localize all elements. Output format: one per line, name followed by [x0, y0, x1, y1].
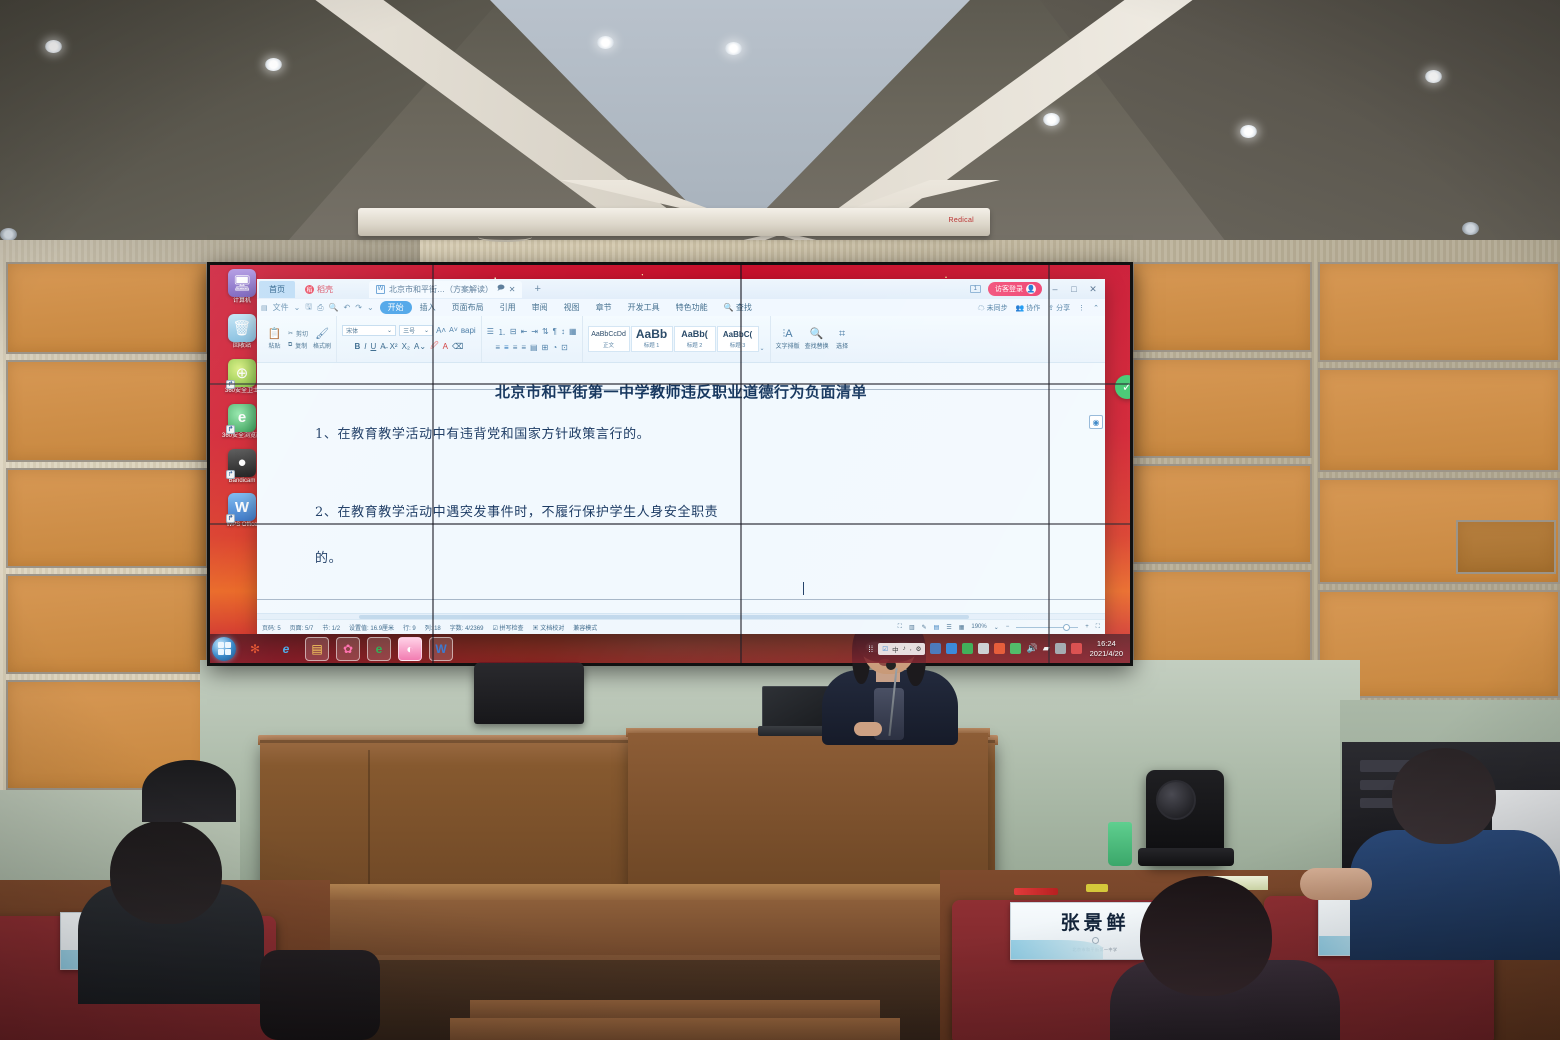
tab-developer-tools[interactable]: 开发工具	[620, 301, 668, 314]
page-layout-icon[interactable]: ▤	[934, 624, 940, 631]
shrink-font-icon[interactable]: A˅	[449, 327, 458, 334]
status-page-number: 页码: 5	[262, 623, 281, 632]
cut-icon: ✂	[288, 330, 293, 337]
share-icon: ⇪	[1048, 305, 1054, 312]
ceiling-light	[1425, 70, 1442, 83]
status-doc-proof[interactable]: ▣ 文档校对	[533, 623, 565, 632]
find-replace-label: 查找替换	[805, 341, 829, 350]
yellow-clip	[1086, 884, 1108, 892]
cut-button[interactable]: ✂ 剪切	[288, 329, 308, 338]
audience-head-right	[1392, 748, 1496, 844]
find-replace-button[interactable]: 🔍 查找替换	[805, 328, 829, 350]
wps-ribbon: 📋 粘贴 ✂ 剪切 ⧉ 复制 🖌	[257, 316, 1105, 363]
ceiling-light	[45, 40, 62, 53]
paste-button[interactable]: 📋 粘贴	[266, 328, 283, 350]
copy-icon: ⧉	[288, 342, 292, 349]
bullet-list-icon[interactable]: ☰	[487, 327, 494, 338]
volume-icon[interactable]: 🔊	[1026, 643, 1037, 654]
outline-view-icon[interactable]: ☰	[946, 624, 951, 631]
format-painter-icon: 🖌	[315, 328, 329, 340]
document-paragraph-3: 的。	[291, 546, 1071, 572]
ime-indicator[interactable]: ☑ 中 ♪ , ⚙	[878, 643, 925, 655]
font-format-row: B I U A̶ X² X₂ A⌄ 🖉 A ⌫	[354, 340, 463, 354]
table-borders-icon[interactable]: ⊡	[561, 343, 568, 352]
ime-check-icon: ☑	[882, 645, 888, 653]
document-tab-label: 北京市和平街…（方案解读）	[389, 284, 493, 295]
style-name: 标题 2	[676, 341, 714, 349]
side-tool-button[interactable]: ◉	[1089, 415, 1103, 429]
borders-icon[interactable]: ▦	[569, 327, 577, 338]
highlight-color-icon[interactable]: 🖉	[430, 340, 439, 354]
ceiling-light	[597, 36, 614, 49]
style-name: 标题 1	[633, 341, 671, 349]
ceiling-light	[1462, 222, 1479, 235]
wall-panel	[6, 468, 208, 568]
spotlight-base	[1138, 848, 1234, 866]
style-gallery: AaBbCcDd 正文 AaBb 标题 1 AaBb( 标题 2 AaBbC	[588, 326, 765, 352]
led-screen-content: 🖥 计算机 🗑 回收站 ⊕ ↱ 360安全卫士 e ↱	[210, 265, 1130, 663]
file-menu-button[interactable]: ▤	[261, 304, 268, 312]
tray-green-icon[interactable]	[962, 643, 973, 654]
audience-head-left	[110, 820, 222, 924]
tab-references[interactable]: 引用	[492, 301, 524, 314]
360-browser-glyph: e	[238, 409, 246, 426]
italic-button[interactable]: I	[364, 342, 366, 351]
print-icon[interactable]: ⎙	[317, 303, 323, 313]
ceiling-light	[265, 58, 282, 71]
status-row: 行: 9	[403, 623, 416, 632]
align-left-icon[interactable]: ≡	[495, 343, 500, 352]
zoom-level[interactable]: 190%	[971, 624, 986, 630]
tab-close-icon[interactable]: ✕	[509, 285, 516, 294]
document-heading: 北京市和平街第一中学教师违反职业道德行为负面清单	[291, 381, 1071, 402]
taskbar-360browser-icon[interactable]: e	[367, 637, 391, 661]
foreground-dark-object	[260, 950, 380, 1040]
presenter-hand	[854, 722, 882, 736]
full-screen-icon[interactable]: ⛶	[898, 624, 902, 631]
window-count-badge[interactable]: 1	[970, 285, 981, 293]
taskbar-wps-icon[interactable]: W	[429, 637, 453, 661]
docer-label: 稻壳	[317, 284, 333, 295]
ceiling-light	[725, 42, 742, 55]
cloud-icon: ☁	[978, 305, 985, 312]
wps-ribbon-tab-strip: ▤ 文件 ⌄ 🖫 ⎙ 🔍 ↶ ↷ ⌄ 开始 插入 页面布局 引用 审阅 视图 章…	[257, 299, 1105, 316]
red-pen	[1014, 888, 1058, 895]
wall-panel	[1318, 368, 1560, 472]
projector-brand-label: Redical	[949, 217, 974, 224]
ceiling-light	[1043, 113, 1060, 126]
wps-document-tab[interactable]: W 北京市和平街…（方案解读） 🗩 ✕	[369, 281, 522, 298]
taskbar-ie-icon[interactable]: e	[274, 637, 298, 661]
collaborate-button[interactable]: 👥 协作	[1016, 303, 1041, 313]
zoom-slider[interactable]	[1016, 627, 1078, 628]
shortcut-arrow-icon: ↱	[226, 380, 235, 389]
ribbon-search[interactable]: 🔍 查找	[716, 301, 760, 314]
style-heading-3[interactable]: AaBbC( 标题 3	[717, 326, 759, 352]
tab-insert[interactable]: 插入	[412, 301, 444, 314]
select-icon: ⌗	[839, 328, 845, 340]
typography-icon: ⫶A	[783, 328, 793, 340]
audience-shoulders-right	[1350, 830, 1560, 960]
web-layout-icon[interactable]: ▦	[959, 624, 965, 631]
style-preview: AaBb(	[676, 329, 714, 340]
shortcut-arrow-icon: ↱	[226, 514, 235, 523]
justify-icon[interactable]: ≡	[521, 343, 526, 352]
audience-hand-right	[1300, 868, 1372, 900]
tray-app-icon[interactable]	[930, 643, 941, 654]
search-icon: 🔍	[724, 303, 734, 312]
typography-button[interactable]: ⫶A 文字排版	[776, 328, 800, 350]
clear-format-icon[interactable]: ⌫	[452, 342, 463, 351]
document-rule	[257, 599, 1105, 600]
sort-icon[interactable]: ⇅	[542, 327, 549, 338]
checkbox-icon: ☑	[492, 626, 497, 632]
desk-seam	[368, 750, 370, 900]
taskbar-clock[interactable]: 16:24 2021/4/20	[1087, 639, 1126, 659]
share-button[interactable]: ⇪ 分享	[1048, 303, 1070, 313]
wps-title-bar: 首页 稻 稻壳 W 北京市和平街…（方案解读） 🗩 ✕ + 1 访客登录 👤	[257, 279, 1105, 299]
collapse-ribbon-icon[interactable]: ⌃	[1093, 304, 1099, 312]
style-name: 正文	[590, 341, 628, 349]
document-paragraph-1: 1、在教育教学活动中有违背党和国家方针政策言行的。	[291, 422, 1071, 448]
tab-section[interactable]: 章节	[588, 301, 620, 314]
format-painter-button[interactable]: 🖌 格式刷	[313, 328, 331, 350]
style-preview: AaBbC(	[719, 329, 757, 340]
bold-button[interactable]: B	[354, 342, 360, 351]
wall-panel	[6, 574, 208, 674]
align-row: ≡ ≡ ≡ ≡ ▤ ⊞ ◔ ⊡	[495, 343, 568, 352]
reading-layout-icon[interactable]: ▥	[909, 624, 915, 631]
grow-font-icon[interactable]: A˄	[436, 326, 446, 335]
green-bottle	[1108, 822, 1132, 866]
shading-icon[interactable]: ◔	[552, 343, 557, 352]
word-doc-icon: W	[376, 285, 385, 294]
print-preview-icon[interactable]: 🔍	[329, 303, 339, 312]
edit-mode-icon[interactable]: ✎	[922, 624, 927, 631]
underline-button[interactable]: U	[370, 342, 376, 351]
new-tab-button[interactable]: +	[534, 283, 540, 295]
windows-logo-icon	[218, 642, 231, 655]
paragraph-layout-icon[interactable]: ⊞	[542, 343, 549, 352]
minimize-button[interactable]: –	[1049, 284, 1061, 294]
style-preview: AaBb	[633, 329, 671, 340]
style-normal[interactable]: AaBbCcDd 正文	[588, 326, 630, 352]
paste-label: 粘贴	[268, 341, 280, 350]
people-icon: 👥	[1016, 305, 1025, 312]
document-canvas[interactable]: 北京市和平街第一中学教师违反职业道德行为负面清单 1、在教育教学活动中有违背党和…	[257, 363, 1105, 613]
wall-panel	[1318, 262, 1560, 362]
titlebar-right-controls: 1 访客登录 👤 – □ ✕	[970, 282, 1105, 296]
status-section: 节: 1/2	[322, 623, 340, 632]
tab-special-features[interactable]: 特色功能	[668, 301, 716, 314]
audience-head-center	[1140, 876, 1272, 996]
text-effects-icon[interactable]: A⌄	[414, 342, 426, 351]
numbered-list-icon[interactable]: ⒈	[498, 327, 506, 338]
align-center-icon[interactable]: ≡	[504, 343, 509, 352]
horizontal-scrollbar[interactable]	[257, 613, 1105, 619]
show-marks-icon[interactable]: ¶	[553, 327, 557, 338]
recycle-bin-glyph: 🗑	[232, 319, 251, 337]
sync-status[interactable]: ☁ 未同步	[978, 303, 1008, 313]
list-row: ☰ ⒈ ⊟ ⇤ ⇥ ⇅ ¶ ↕ ▦	[487, 327, 577, 338]
status-compat-mode: 兼容模式	[573, 623, 597, 632]
style-preview: AaBbCcDd	[590, 329, 628, 340]
360-guard-glyph: ⊕	[236, 364, 249, 382]
wall-panel	[1132, 262, 1312, 352]
format-painter-label: 格式刷	[313, 341, 331, 350]
account-label: 访客登录	[995, 284, 1023, 294]
wps-office-icon: W ↱	[228, 493, 256, 521]
account-badge[interactable]: 访客登录 👤	[988, 282, 1042, 296]
subscript-icon[interactable]: X₂	[402, 342, 410, 351]
document-paragraph-2: 2、在教育教学活动中遇突发事件时，不履行保护学生人身安全职责	[291, 500, 1071, 526]
copy-label: 复制	[295, 341, 307, 350]
select-label: 选择	[836, 341, 848, 350]
360-browser-icon: e ↱	[228, 404, 256, 432]
stage-step	[450, 1018, 900, 1040]
shortcut-arrow-icon: ↱	[226, 470, 235, 479]
chevron-down-icon[interactable]: ⌄	[294, 303, 301, 312]
increase-indent-icon[interactable]: ⇥	[531, 327, 538, 338]
status-word-count: 字数: 4/2369	[450, 623, 484, 632]
led-video-wall: 🖥 计算机 🗑 回收站 ⊕ ↱ 360安全卫士 e ↱	[207, 262, 1133, 666]
zoom-dropdown-icon[interactable]: ⌄	[994, 624, 999, 631]
wps-docer-tab[interactable]: 稻 稻壳	[295, 284, 343, 295]
spotlight-lens	[1156, 780, 1196, 820]
doc-proof-label: 文档校对	[540, 626, 564, 632]
document-page[interactable]: 北京市和平街第一中学教师违反职业道德行为负面清单 1、在教育教学活动中有违背党和…	[257, 363, 1105, 613]
spell-check-label: 拼写检查	[500, 626, 524, 632]
align-right-icon[interactable]: ≡	[513, 343, 518, 352]
quick-access-toolbar: ▤ 文件 ⌄ 🖫 ⎙ 🔍 ↶ ↷ ⌄	[261, 301, 380, 315]
conference-hall-photo: Redical 🖥 计算	[0, 0, 1560, 1040]
phonetic-guide-icon[interactable]: варі	[461, 326, 476, 335]
collaborate-label: 协作	[1026, 305, 1040, 312]
nameplate-wave	[1011, 940, 1103, 959]
taskbar-qq-icon[interactable]: ✿	[336, 637, 360, 661]
wall-panel	[1132, 570, 1312, 670]
styles-more-icon[interactable]: ⌄	[760, 345, 765, 352]
multilevel-list-icon[interactable]: ⊟	[510, 327, 517, 338]
360-tray-icon[interactable]	[994, 643, 1005, 654]
redo-icon[interactable]: ↷	[355, 303, 362, 312]
document-rule	[257, 389, 1105, 390]
start-button[interactable]	[212, 637, 236, 661]
font-name-value: 宋体	[346, 326, 358, 335]
tab-start[interactable]: 开始	[380, 301, 412, 314]
font-group: 宋体 ⌄ 三号 ⌄ A˄ A˅ варі B I	[337, 316, 482, 362]
status-right-controls: ⛶ ▥ ✎ ▤ ☰ ▦ 190% ⌄ − + ⛶	[898, 624, 1100, 631]
system-tray: ⁞⁞ ☑ 中 ♪ , ⚙ 🔊 ▰ 16:24	[868, 639, 1130, 659]
proof-icon: ▣	[533, 626, 539, 632]
font-size-select[interactable]: 三号 ⌄	[399, 325, 433, 336]
status-setting: 设置值: 16.9厘米	[349, 623, 394, 632]
taskbar-explorer-icon[interactable]: ▤	[305, 637, 329, 661]
printer-icon[interactable]	[978, 643, 989, 654]
editing-group: ⫶A 文字排版 🔍 查找替换 ⌗ 选择	[771, 316, 856, 362]
tray-misc-icon[interactable]	[1055, 643, 1066, 654]
zoom-in-button[interactable]: +	[1085, 624, 1089, 630]
select-button[interactable]: ⌗ 选择	[834, 328, 851, 350]
360-security-guard-icon: ⊕ ↱	[228, 359, 256, 387]
windows-taskbar: ✻ e ▤ ✿ e ◐ W ⁞⁞ ☑ 中 ♪ , ⚙	[210, 634, 1130, 663]
distribute-icon[interactable]: ▤	[530, 343, 538, 352]
chevron-down-icon: ⌄	[387, 327, 392, 334]
font-size-value: 三号	[403, 326, 415, 335]
paste-icon: 📋	[268, 328, 282, 340]
fit-page-icon[interactable]: ⛶	[1096, 624, 1100, 631]
bluetooth-icon[interactable]	[946, 643, 957, 654]
taskbar-360-icon[interactable]: ✻	[243, 637, 267, 661]
network-icon[interactable]: ▰	[1043, 643, 1050, 654]
nameplate-name: 张景鲜	[1060, 908, 1129, 935]
find-replace-icon: 🔍	[810, 328, 824, 340]
superscript-icon[interactable]: X²	[390, 342, 398, 351]
projector-screen-roller: Redical	[358, 208, 990, 236]
computer-icon: 🖥	[228, 269, 256, 297]
ime-lang: 中	[892, 644, 899, 654]
text-cursor	[803, 582, 804, 595]
roller-cord	[478, 232, 532, 242]
wall-panel	[1132, 464, 1312, 564]
wps-glyph: W	[235, 499, 249, 516]
customize-qat-icon[interactable]: ⌄	[367, 303, 374, 312]
avatar-icon: 👤	[1026, 284, 1036, 294]
maximize-button[interactable]: □	[1068, 284, 1080, 294]
docer-icon: 稻	[305, 285, 314, 294]
bandicam-glyph: ●	[237, 454, 246, 471]
undo-icon[interactable]: ↶	[344, 303, 351, 312]
chevron-down-icon: ⌄	[424, 327, 429, 334]
recycle-bin-icon: 🗑	[228, 314, 256, 342]
more-options-icon[interactable]: ⋮	[1078, 304, 1085, 312]
style-heading-1[interactable]: AaBb 标题 1	[631, 326, 673, 352]
ceiling-light	[1240, 125, 1257, 138]
strikethrough-icon[interactable]: A̶	[380, 342, 385, 351]
flag-icon[interactable]	[1071, 643, 1082, 654]
ime-toolbox-icon: ⚙	[916, 645, 922, 653]
status-spell-check[interactable]: ☑ 拼写检查	[492, 623, 523, 632]
style-name: 标题 3	[719, 341, 757, 349]
wall-panel	[6, 360, 208, 462]
decrease-indent-icon[interactable]: ⇤	[521, 327, 528, 338]
computer-glyph: 🖥	[232, 274, 251, 292]
clipboard-group: 📋 粘贴 ✂ 剪切 ⧉ 复制 🖌	[261, 316, 337, 362]
close-button[interactable]: ✕	[1087, 284, 1099, 295]
wps-status-bar: 页码: 5 页面: 5/7 节: 1/2 设置值: 16.9厘米 行: 9 列:…	[257, 619, 1105, 634]
stage-step	[470, 1000, 880, 1020]
ribbon-right-actions: ☁ 未同步 👥 协作 ⇪ 分享 ⋮ ⌃	[978, 303, 1105, 313]
wps-office-window[interactable]: 首页 稻 稻壳 W 北京市和平街…（方案解读） 🗩 ✕ + 1 访客登录 👤	[257, 279, 1105, 634]
tab-page-layout[interactable]: 页面布局	[444, 301, 492, 314]
shortcut-arrow-icon: ↱	[226, 425, 235, 434]
styles-group: AaBbCcDd 正文 AaBb 标题 1 AaBb( 标题 2 AaBbC	[583, 316, 771, 362]
save-icon[interactable]: 🖫	[305, 301, 312, 315]
stage-chair	[474, 662, 584, 724]
wall-panel	[6, 262, 208, 354]
clock-date: 2021/4/20	[1090, 649, 1123, 659]
tab-comment-icon[interactable]: 🗩	[497, 284, 505, 295]
podium	[628, 733, 988, 903]
share-label: 分享	[1056, 305, 1070, 312]
wall-panel	[1132, 358, 1312, 458]
tab-view[interactable]: 视图	[556, 301, 588, 314]
shield-icon[interactable]	[1010, 643, 1021, 654]
paragraph-group: ☰ ⒈ ⊟ ⇤ ⇥ ⇅ ¶ ↕ ▦ ≡ ≡ ≡ ≡	[482, 316, 583, 362]
show-hidden-icons-button[interactable]: ⁞⁞	[868, 644, 873, 654]
ime-mode: ♪	[903, 645, 906, 652]
font-name-select[interactable]: 宋体 ⌄	[342, 325, 396, 336]
status-page-of: 页面: 5/7	[290, 623, 314, 632]
font-color-icon[interactable]: A	[443, 342, 448, 351]
file-menu-label[interactable]: 文件	[273, 302, 289, 313]
zoom-out-button[interactable]: −	[1006, 624, 1010, 630]
clock-time: 16:24	[1090, 639, 1123, 649]
line-spacing-icon[interactable]: ↕	[561, 327, 565, 338]
wps-home-tab[interactable]: 首页	[259, 281, 295, 298]
wall-panel-inset	[1456, 520, 1556, 574]
copy-button[interactable]: ⧉ 复制	[288, 341, 308, 350]
style-heading-2[interactable]: AaBb( 标题 2	[674, 326, 716, 352]
search-label: 查找	[736, 303, 752, 312]
ime-comma-icon: ,	[910, 645, 912, 652]
audience-head-far-left	[142, 760, 236, 822]
tab-review[interactable]: 审阅	[524, 301, 556, 314]
sync-label: 未同步	[987, 305, 1008, 312]
typography-label: 文字排版	[776, 341, 800, 350]
status-column: 列: 18	[425, 623, 441, 632]
bandicam-icon: ● ↱	[228, 449, 256, 477]
taskbar-photo-icon[interactable]: ◐	[398, 637, 422, 661]
cut-label: 剪切	[296, 329, 308, 338]
